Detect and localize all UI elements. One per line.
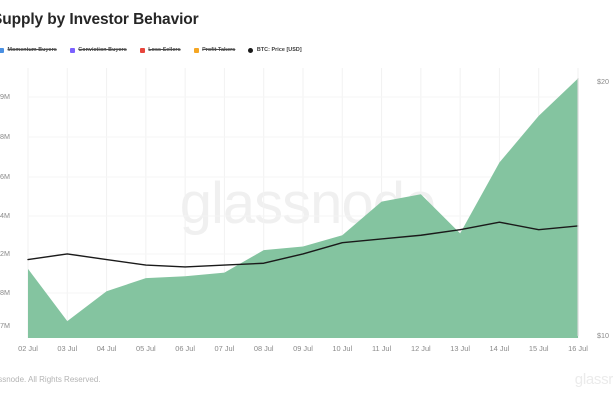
glassnode-corner-watermark: glassr bbox=[575, 371, 613, 388]
page-title: Supply by Investor Behavior bbox=[0, 11, 199, 29]
legend-swatch-icon bbox=[140, 48, 145, 53]
y-axis-left-tick: 7.2M bbox=[0, 249, 10, 258]
x-axis-tick: 07 Jul bbox=[215, 344, 235, 353]
y-axis-left-tick: 6.7M bbox=[0, 321, 10, 330]
x-axis-tick: 14 Jul bbox=[490, 344, 510, 353]
x-axis-tick: 08 Jul bbox=[254, 344, 274, 353]
x-axis-tick: 04 Jul bbox=[97, 344, 117, 353]
chart-legend: Momentum BuyersConviction BuyersLoss Sel… bbox=[0, 43, 315, 57]
x-axis-tick: 02 Jul bbox=[18, 344, 38, 353]
legend-item-label: Profit Takers bbox=[202, 47, 235, 53]
x-axis-tick: 10 Jul bbox=[332, 344, 352, 353]
x-axis-tick: 05 Jul bbox=[136, 344, 156, 353]
y-axis-left-tick: 7.8M bbox=[0, 132, 10, 141]
chart-plot-area[interactable]: glassnode bbox=[0, 68, 615, 338]
legend-item-0[interactable]: Momentum Buyers bbox=[0, 47, 57, 53]
legend-swatch-icon bbox=[248, 48, 253, 53]
legend-item-label: Loss Sellers bbox=[148, 47, 180, 53]
legend-item-4[interactable]: BTC: Price [USD] bbox=[248, 47, 301, 53]
legend-swatch-icon bbox=[0, 48, 4, 53]
legend-item-label: Conviction Buyers bbox=[78, 47, 126, 53]
chart-svg bbox=[0, 68, 615, 338]
legend-item-3[interactable]: Profit Takers bbox=[194, 47, 236, 53]
x-axis-tick: 03 Jul bbox=[57, 344, 77, 353]
x-axis-tick: 09 Jul bbox=[293, 344, 313, 353]
y-axis-left-tick: 7.6M bbox=[0, 172, 10, 181]
legend-item-1[interactable]: Conviction Buyers bbox=[70, 47, 127, 53]
x-axis-tick: 15 Jul bbox=[529, 344, 549, 353]
y-axis-left-tick: 6.8M bbox=[0, 288, 10, 297]
copyright-footer: lassnode. All Rights Reserved. bbox=[0, 375, 101, 384]
y-axis-right-tick: $10 bbox=[597, 331, 609, 340]
legend-item-label: Momentum Buyers bbox=[8, 47, 57, 53]
legend-swatch-icon bbox=[70, 48, 75, 53]
y-axis-left-tick: 7.9M bbox=[0, 92, 10, 101]
x-axis-tick: 13 Jul bbox=[450, 344, 470, 353]
x-axis-tick: 12 Jul bbox=[411, 344, 431, 353]
legend-item-label: BTC: Price [USD] bbox=[257, 47, 302, 53]
y-axis-left-tick: 7.4M bbox=[0, 211, 10, 220]
x-axis-tick: 11 Jul bbox=[372, 344, 391, 353]
legend-item-2[interactable]: Loss Sellers bbox=[140, 47, 181, 53]
legend-swatch-icon bbox=[194, 48, 199, 53]
x-axis-tick: 06 Jul bbox=[175, 344, 195, 353]
y-axis-right-tick: $20 bbox=[597, 77, 609, 86]
x-axis-tick: 16 Jul bbox=[568, 344, 588, 353]
